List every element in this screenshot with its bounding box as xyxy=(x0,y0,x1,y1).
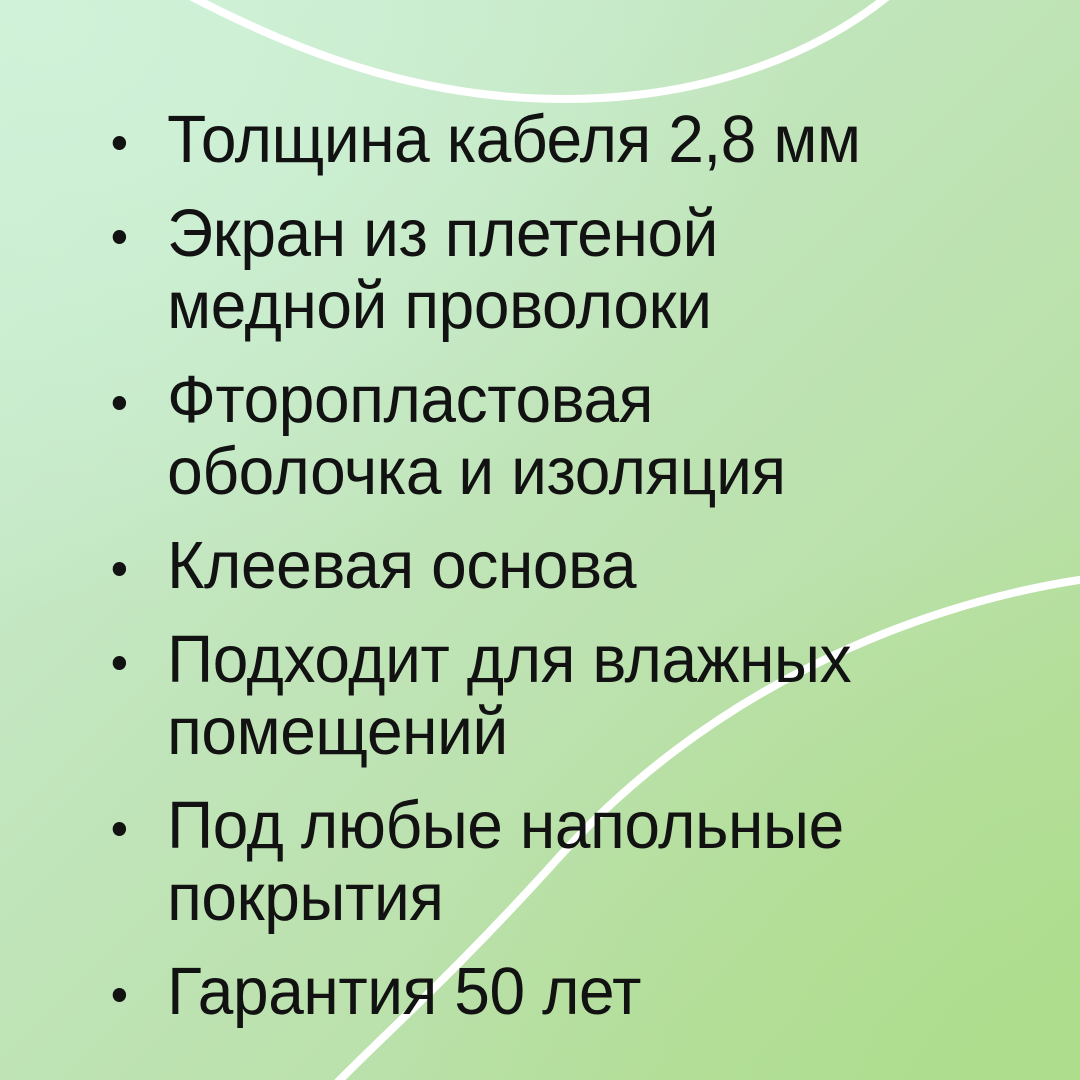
list-item: Экран из плетеной медной проволоки xyxy=(0,198,1031,342)
list-item-label: Под любые напольные покрытия xyxy=(167,790,940,934)
bullet-dot-icon xyxy=(113,136,126,150)
list-item-label: Гарантия 50 лет xyxy=(167,956,940,1028)
list-item: Гарантия 50 лет xyxy=(0,956,1031,1028)
bullet-dot-icon xyxy=(113,822,126,836)
list-item-label: Клеевая основа xyxy=(167,530,940,602)
feature-bullet-list: Толщина кабеля 2,8 мм Экран из плетеной … xyxy=(0,0,1080,1028)
list-item-label: Фторопластовая оболочка и изоляция xyxy=(167,364,940,508)
list-item: Клеевая основа xyxy=(0,530,1031,602)
list-item-label: Экран из плетеной медной проволоки xyxy=(167,198,940,342)
feature-list-slide: Толщина кабеля 2,8 мм Экран из плетеной … xyxy=(0,0,1080,1080)
list-item: Под любые напольные покрытия xyxy=(0,790,1031,934)
list-item: Подходит для влажных помещений xyxy=(0,624,1031,768)
bullet-dot-icon xyxy=(113,396,126,410)
bullet-dot-icon xyxy=(113,230,126,244)
list-item-label: Толщина кабеля 2,8 мм xyxy=(167,104,940,176)
list-item-label: Подходит для влажных помещений xyxy=(167,624,940,768)
bullet-dot-icon xyxy=(113,562,126,576)
bullet-dot-icon xyxy=(113,988,126,1002)
bullet-dot-icon xyxy=(113,656,126,670)
list-item: Толщина кабеля 2,8 мм xyxy=(0,104,1031,176)
list-item: Фторопластовая оболочка и изоляция xyxy=(0,364,1031,508)
